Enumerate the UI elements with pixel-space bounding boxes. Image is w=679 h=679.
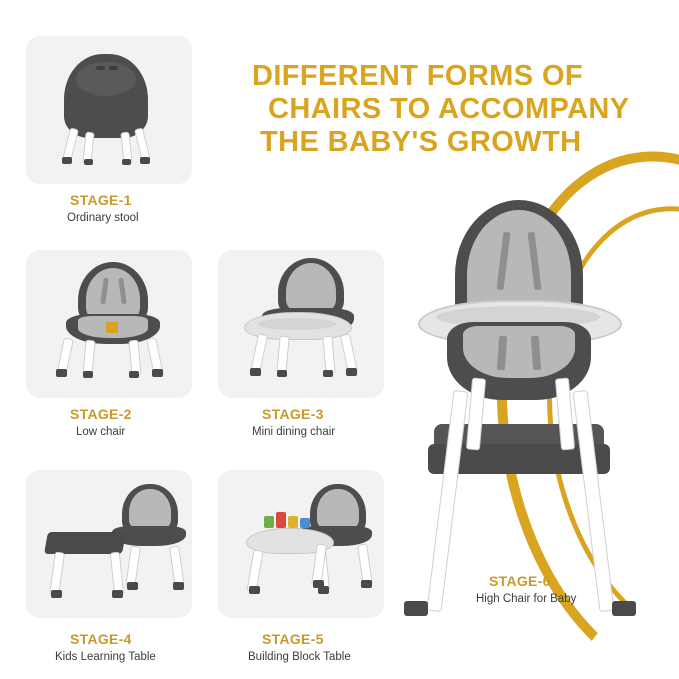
- product-infographic: DIFFERENT FORMS OF CHAIRS TO ACCOMPANY T…: [0, 0, 679, 679]
- stage-6-label: STAGE-6: [489, 573, 551, 589]
- highchair-foot: [404, 601, 428, 616]
- highchair-foot: [612, 601, 636, 616]
- stage-6-highchair-illustration: [0, 0, 679, 679]
- highchair-seat-pad: [463, 326, 575, 378]
- stage-6-description: High Chair for Baby: [476, 593, 576, 605]
